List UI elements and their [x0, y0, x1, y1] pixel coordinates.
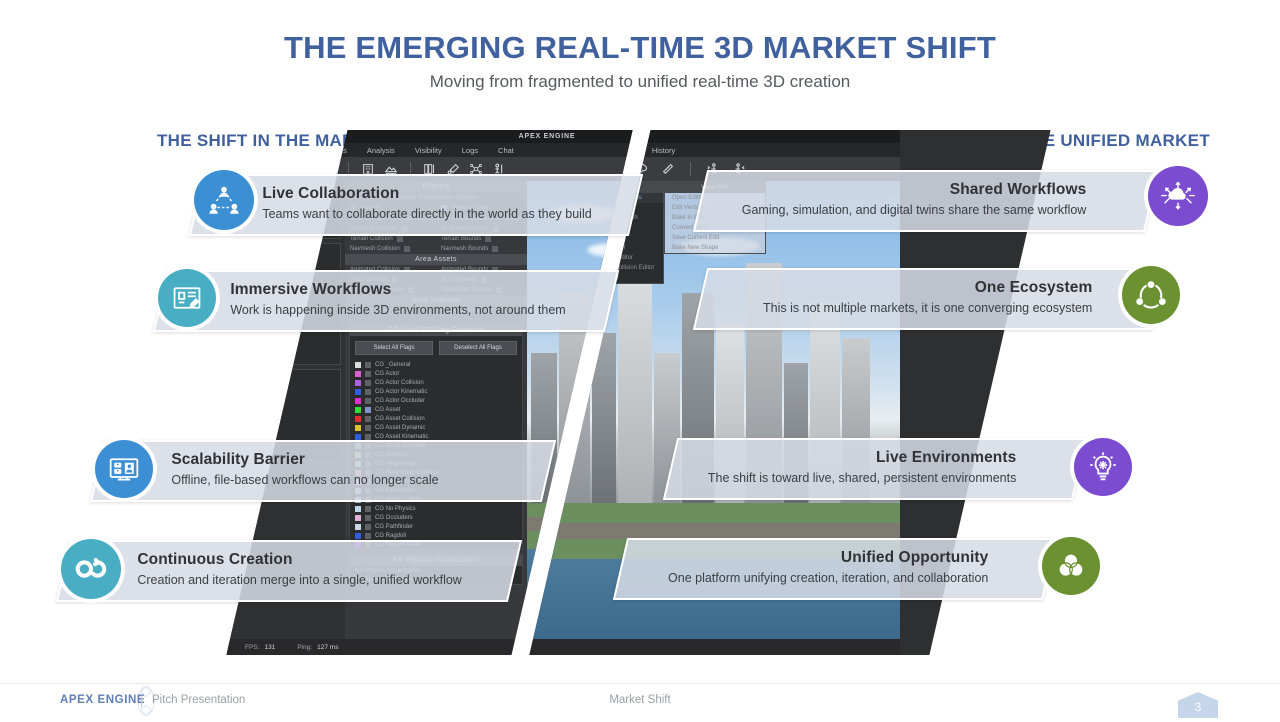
- card-immersive-workflows[interactable]: Immersive Workflows Work is happening in…: [153, 270, 619, 332]
- fps-value: 131: [264, 644, 275, 651]
- flag-label: CG Asset Kinematic: [375, 434, 428, 440]
- ping-value: 127 ms: [317, 644, 338, 651]
- ping-indicator: Ping:127 ms: [297, 644, 338, 651]
- flag-color-swatch: [355, 416, 361, 422]
- flag-row[interactable]: CG _General: [350, 360, 522, 369]
- footer-center-label: Market Shift: [0, 694, 1280, 706]
- menu-item[interactable]: Save Current Edit: [665, 233, 765, 243]
- card-title: Continuous Creation: [137, 550, 517, 570]
- flag-color-swatch: [355, 362, 361, 368]
- menu-item-logs[interactable]: Logs: [462, 146, 478, 155]
- card-desc: The shift is toward live, shared, persis…: [676, 469, 1016, 487]
- flag-label: CG Asset: [375, 407, 400, 413]
- flag-color-swatch: [355, 389, 361, 395]
- monitor-users-icon: [95, 440, 153, 498]
- share-nodes-icon: [1122, 266, 1180, 324]
- card-shared-workflows[interactable]: Shared Workflows Gaming, simulation, and…: [693, 170, 1159, 232]
- checkbox[interactable]: [365, 371, 371, 377]
- card-text: Live Environments The shift is toward li…: [676, 448, 1016, 487]
- infinity-loop-icon: [61, 539, 121, 599]
- deselect-all-flags-button[interactable]: Deselect All Flags: [439, 341, 517, 355]
- flag-color-swatch: [355, 398, 361, 404]
- checkbox[interactable]: [365, 380, 371, 386]
- card-live-environments[interactable]: Live Environments The shift is toward li…: [663, 438, 1087, 500]
- card-desc: Offline, file-based workflows can no lon…: [171, 471, 551, 489]
- lightbulb-gear-icon: [1074, 438, 1132, 496]
- flag-label: CG Actor Occluder: [375, 398, 425, 404]
- card-desc: Creation and iteration merge into a sing…: [137, 571, 517, 589]
- flag-label: CG Pathfinder: [375, 524, 413, 530]
- fps-label: FPS:: [245, 644, 259, 651]
- menu-item-history[interactable]: History: [652, 146, 675, 155]
- blueprint-edit-icon: [158, 269, 216, 327]
- card-title: One Ecosystem: [704, 278, 1092, 298]
- row-label: Terrain Bounds: [441, 236, 481, 242]
- card-desc: Work is happening inside 3D environments…: [230, 301, 614, 319]
- road: [529, 523, 900, 539]
- checkbox[interactable]: [365, 515, 371, 521]
- card-unified-opportunity[interactable]: Unified Opportunity One platform unifyin…: [613, 538, 1057, 600]
- flag-color-swatch: [355, 533, 361, 539]
- flag-row[interactable]: CG Actor Occluder: [350, 396, 522, 405]
- ruler-icon[interactable]: [661, 162, 675, 176]
- checkbox[interactable]: [485, 236, 491, 242]
- card-title: Live Collaboration: [262, 184, 638, 204]
- flag-panel-buttons: Select All Flags Deselect All Flags: [350, 336, 522, 360]
- row-label: Terrain Collision: [350, 236, 393, 242]
- card-one-ecosystem[interactable]: One Ecosystem This is not multiple marke…: [693, 268, 1167, 330]
- card-text: Scalability Barrier Offline, file-based …: [171, 450, 551, 489]
- card-continuous-creation[interactable]: Continuous Creation Creation and iterati…: [56, 540, 522, 602]
- checkbox[interactable]: [397, 236, 403, 242]
- flag-color-swatch: [355, 506, 361, 512]
- flag-color-swatch: [355, 425, 361, 431]
- toolbar-separator: [690, 162, 691, 176]
- flag-label: CG Ragdoll: [375, 533, 406, 539]
- ping-label: Ping:: [297, 644, 312, 651]
- card-title: Shared Workflows: [706, 180, 1086, 200]
- collaboration-network-icon: [194, 170, 254, 230]
- page-title: THE EMERGING REAL-TIME 3D MARKET SHIFT: [0, 30, 1280, 66]
- flag-color-swatch: [355, 371, 361, 377]
- checkbox[interactable]: [365, 389, 371, 395]
- flag-label: CG Actor Kinematic: [375, 389, 427, 395]
- building: [592, 333, 616, 503]
- checkbox[interactable]: [365, 434, 371, 440]
- menu-item-analysis[interactable]: Analysis: [367, 146, 395, 155]
- page-subtitle: Moving from fragmented to unified real-t…: [0, 72, 1280, 92]
- flag-label: CG Asset Dynamic: [375, 425, 425, 431]
- row-label: Navmesh Collision: [350, 246, 400, 252]
- card-title: Scalability Barrier: [171, 450, 551, 470]
- building: [618, 253, 652, 503]
- checkbox[interactable]: [404, 246, 410, 252]
- flag-row[interactable]: CG Asset: [350, 405, 522, 414]
- checkbox[interactable]: [365, 398, 371, 404]
- card-live-collaboration[interactable]: Live Collaboration Teams want to collabo…: [189, 174, 643, 236]
- checkbox[interactable]: [365, 362, 371, 368]
- checkbox[interactable]: [365, 533, 371, 539]
- card-text: One Ecosystem This is not multiple marke…: [704, 278, 1092, 317]
- flag-label: CG _General: [375, 362, 410, 368]
- card-desc: This is not multiple markets, it is one …: [704, 299, 1092, 317]
- flag-color-swatch: [355, 434, 361, 440]
- row-label: Navmesh Bounds: [441, 246, 488, 252]
- flag-row[interactable]: CG Actor Collision: [350, 378, 522, 387]
- checkbox[interactable]: [365, 506, 371, 512]
- flag-row[interactable]: CG Actor Kinematic: [350, 387, 522, 396]
- checkbox[interactable]: [492, 246, 498, 252]
- checkbox[interactable]: [365, 407, 371, 413]
- flag-row[interactable]: CG Ragdoll: [350, 531, 522, 540]
- flag-row[interactable]: CG Occluders: [350, 513, 522, 522]
- card-title: Unified Opportunity: [628, 548, 988, 568]
- menu-item-visibility[interactable]: Visibility: [415, 146, 442, 155]
- flag-row[interactable]: CG Asset Collision: [350, 414, 522, 423]
- card-title: Live Environments: [676, 448, 1016, 468]
- card-text: Unified Opportunity One platform unifyin…: [628, 548, 988, 587]
- flag-selection-panel: CG And CFF Flag Selection Select All Fla…: [349, 324, 523, 550]
- checkbox[interactable]: [365, 425, 371, 431]
- area-assets-header: Area Assets: [345, 254, 527, 265]
- flag-row[interactable]: CG Actor: [350, 369, 522, 378]
- checkbox[interactable]: [365, 416, 371, 422]
- flag-label: CG Actor: [375, 371, 399, 377]
- flag-row[interactable]: CG No Physics: [350, 504, 522, 513]
- card-text: Immersive Workflows Work is happening in…: [230, 280, 614, 319]
- venn-circles-icon: [1042, 537, 1100, 595]
- flag-row[interactable]: CG Pathfinder: [350, 522, 522, 531]
- checkbox[interactable]: [365, 524, 371, 530]
- physics-row-2: Navmesh Collision Navmesh Bounds: [345, 244, 527, 254]
- flag-color-swatch: [355, 524, 361, 530]
- card-text: Continuous Creation Creation and iterati…: [137, 550, 517, 589]
- flag-label: CG Asset Collision: [375, 416, 425, 422]
- card-text: Live Collaboration Teams want to collabo…: [262, 184, 638, 223]
- card-text: Shared Workflows Gaming, simulation, and…: [706, 180, 1086, 219]
- menu-item[interactable]: Bake New Shape: [665, 243, 765, 253]
- flag-label: CG No Physics: [375, 506, 416, 512]
- card-desc: Gaming, simulation, and digital twins sh…: [706, 201, 1086, 219]
- flag-color-swatch: [355, 515, 361, 521]
- card-scalability-barrier[interactable]: Scalability Barrier Offline, file-based …: [90, 440, 556, 502]
- flag-label: CG Occluders: [375, 515, 413, 521]
- editor-status-bar-right: [529, 639, 900, 655]
- flag-label: CG Actor Collision: [375, 380, 424, 386]
- card-desc: Teams want to collaborate directly in th…: [262, 205, 638, 223]
- fps-indicator: FPS:131: [245, 644, 275, 651]
- menu-item-chat[interactable]: Chat: [498, 146, 514, 155]
- flag-row[interactable]: CG Asset Dynamic: [350, 423, 522, 432]
- slide-root: THE EMERGING REAL-TIME 3D MARKET SHIFT M…: [0, 0, 1280, 720]
- footer-divider: [0, 683, 1280, 684]
- flag-color-swatch: [355, 407, 361, 413]
- select-all-flags-button[interactable]: Select All Flags: [355, 341, 433, 355]
- flag-color-swatch: [355, 380, 361, 386]
- cloud-network-icon: [1148, 166, 1208, 226]
- card-desc: One platform unifying creation, iteratio…: [628, 569, 988, 587]
- card-title: Immersive Workflows: [230, 280, 614, 300]
